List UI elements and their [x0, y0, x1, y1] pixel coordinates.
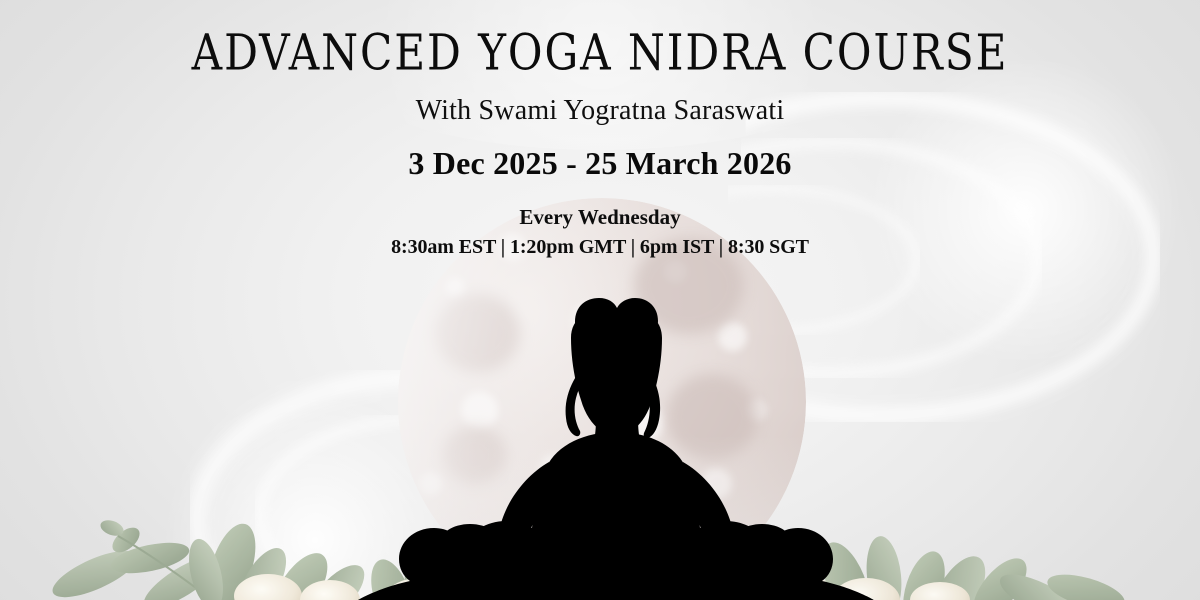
schedule-day: Every Wednesday [0, 205, 1200, 229]
poster-text-block: Advanced Yoga Nidra Course With Swami Yo… [0, 0, 1200, 259]
head [571, 308, 662, 430]
instructor-name: With Swami Yogratna Saraswati [0, 96, 1200, 127]
course-title: Advanced Yoga Nidra Course [24, 29, 1176, 78]
yoga-course-poster: Advanced Yoga Nidra Course With Swami Yo… [0, 0, 1200, 600]
course-dates: 3 Dec 2025 - 25 March 2026 [0, 146, 1200, 181]
schedule-timezones: 8:30am EST | 1:20pm GMT | 6pm IST | 8:30… [0, 236, 1200, 259]
